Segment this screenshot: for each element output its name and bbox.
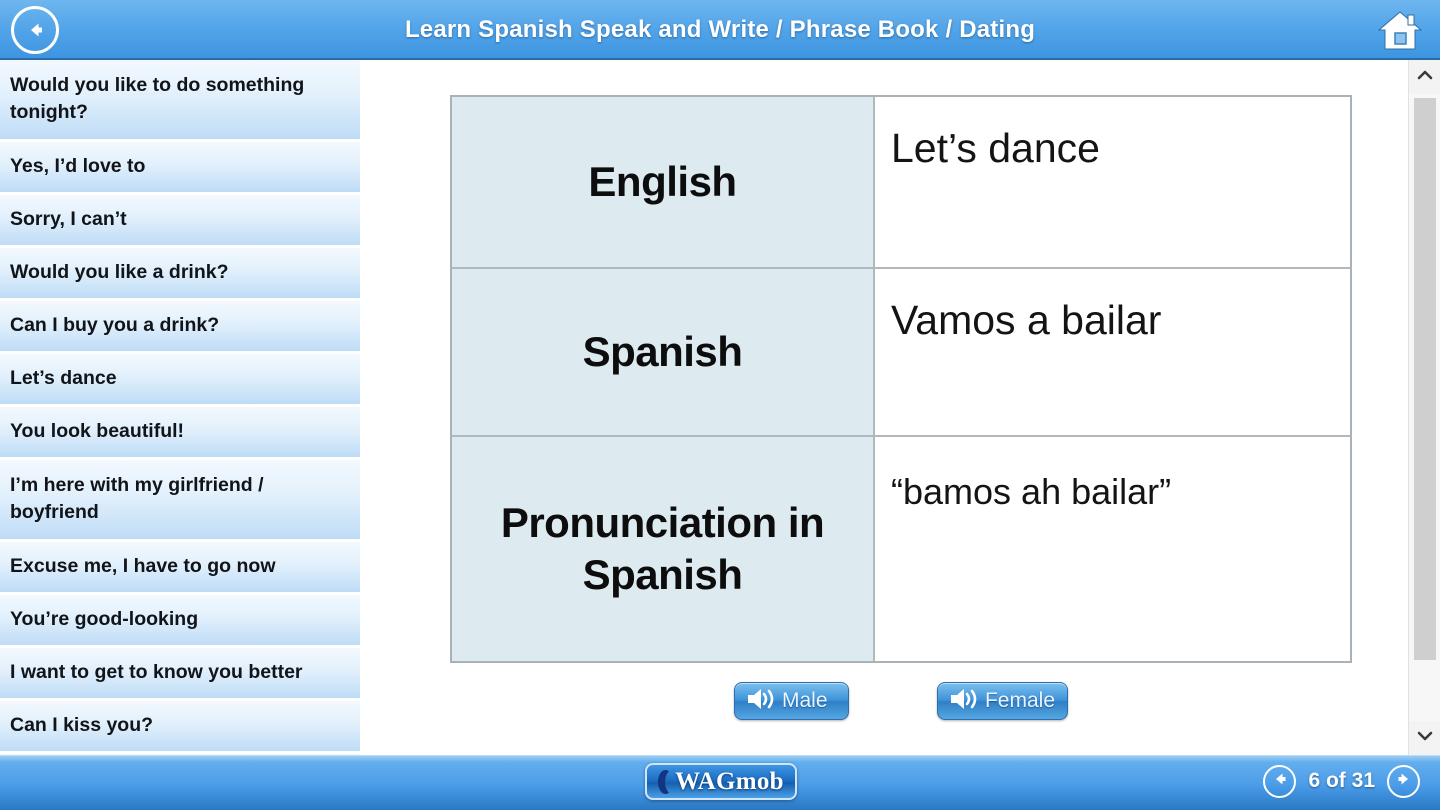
phrase-list-sidebar[interactable]: Would you like to do something tonight?Y… — [0, 60, 361, 755]
scroll-up-button[interactable] — [1409, 60, 1440, 94]
male-label: Male — [782, 689, 828, 713]
table-row: Pronunciation in Spanish “bamos ah baila… — [452, 437, 1350, 661]
list-item-label: Would you like to do something tonight? — [10, 74, 304, 123]
arrow-left-circle-icon — [22, 17, 48, 43]
row-label: English — [452, 97, 875, 267]
app-header: Learn Spanish Speak and Write / Phrase B… — [0, 0, 1440, 60]
list-item-label: You’re good-looking — [10, 608, 198, 630]
list-item-label: I’m here with my girlfriend / boyfriend — [10, 474, 264, 523]
list-item[interactable]: Let’s dance — [0, 354, 361, 407]
brand-label: WAGmob — [675, 768, 784, 796]
arrow-right-circle-icon — [1394, 769, 1414, 794]
speaker-volume-icon — [948, 686, 982, 717]
list-item[interactable]: Can I buy you a drink? — [0, 301, 361, 354]
list-item-label: Can I kiss you? — [10, 714, 153, 736]
main-content: English Let’s dance Spanish Vamos a bail… — [362, 60, 1440, 755]
app-root: Learn Spanish Speak and Write / Phrase B… — [0, 0, 1440, 810]
page-title: Learn Spanish Speak and Write / Phrase B… — [0, 0, 1440, 60]
list-item-label: I want to get to know you better — [10, 661, 303, 683]
home-icon — [1377, 8, 1423, 52]
list-item-label: Excuse me, I have to go now — [10, 555, 276, 577]
page-indicator: 6 of 31 — [1308, 769, 1375, 793]
list-item[interactable]: Sorry, I can’t — [0, 195, 361, 248]
list-item[interactable]: I’m here with my girlfriend / boyfriend — [0, 460, 361, 542]
play-male-audio-button[interactable]: Male — [734, 682, 849, 720]
scroll-down-button[interactable] — [1409, 721, 1440, 755]
list-item[interactable]: You look beautiful! — [0, 407, 361, 460]
list-item-label: Can I buy you a drink? — [10, 314, 219, 336]
list-item[interactable]: You’re good-looking — [0, 595, 361, 648]
crescent-icon — [658, 770, 673, 794]
list-item[interactable]: Yes, I’d love to — [0, 142, 361, 195]
row-value: “bamos ah bailar” — [875, 437, 1350, 661]
speaker-volume-icon — [745, 686, 779, 717]
audio-buttons: Male Female — [450, 682, 1352, 720]
content-scrollbar[interactable] — [1408, 60, 1440, 755]
row-value: Let’s dance — [875, 97, 1350, 267]
list-item[interactable]: I want to get to know you better — [0, 648, 361, 701]
chevron-up-icon — [1417, 68, 1433, 86]
row-label: Pronunciation in Spanish — [452, 437, 875, 661]
list-item-label: Would you like a drink? — [10, 261, 229, 283]
chevron-down-icon — [1417, 729, 1433, 747]
row-value: Vamos a bailar — [875, 269, 1350, 435]
wagmob-logo-button[interactable]: WAGmob — [645, 763, 797, 800]
row-label: Spanish — [452, 269, 875, 435]
next-page-button[interactable] — [1387, 765, 1420, 798]
back-button[interactable] — [11, 6, 59, 54]
table-row: English Let’s dance — [452, 97, 1350, 267]
scrollbar-thumb[interactable] — [1414, 98, 1436, 660]
list-item[interactable]: Would you like to do something tonight? — [0, 60, 361, 142]
list-item[interactable]: Would you like a drink? — [0, 248, 361, 301]
home-button[interactable] — [1374, 5, 1426, 55]
phrase-detail-table: English Let’s dance Spanish Vamos a bail… — [450, 95, 1352, 663]
list-item-label: Sorry, I can’t — [10, 208, 127, 230]
list-item[interactable]: Can I kiss you? — [0, 701, 361, 754]
table-row: Spanish Vamos a bailar — [452, 267, 1350, 437]
list-item-label: You look beautiful! — [10, 420, 184, 442]
play-female-audio-button[interactable]: Female — [937, 682, 1068, 720]
pager: 6 of 31 — [1263, 763, 1420, 799]
list-item-label: Yes, I’d love to — [10, 155, 145, 177]
list-item-label: Let’s dance — [10, 367, 117, 389]
arrow-left-circle-icon — [1270, 769, 1290, 794]
list-item[interactable]: Excuse me, I have to go now — [0, 542, 361, 595]
previous-page-button[interactable] — [1263, 765, 1296, 798]
female-label: Female — [985, 689, 1055, 713]
